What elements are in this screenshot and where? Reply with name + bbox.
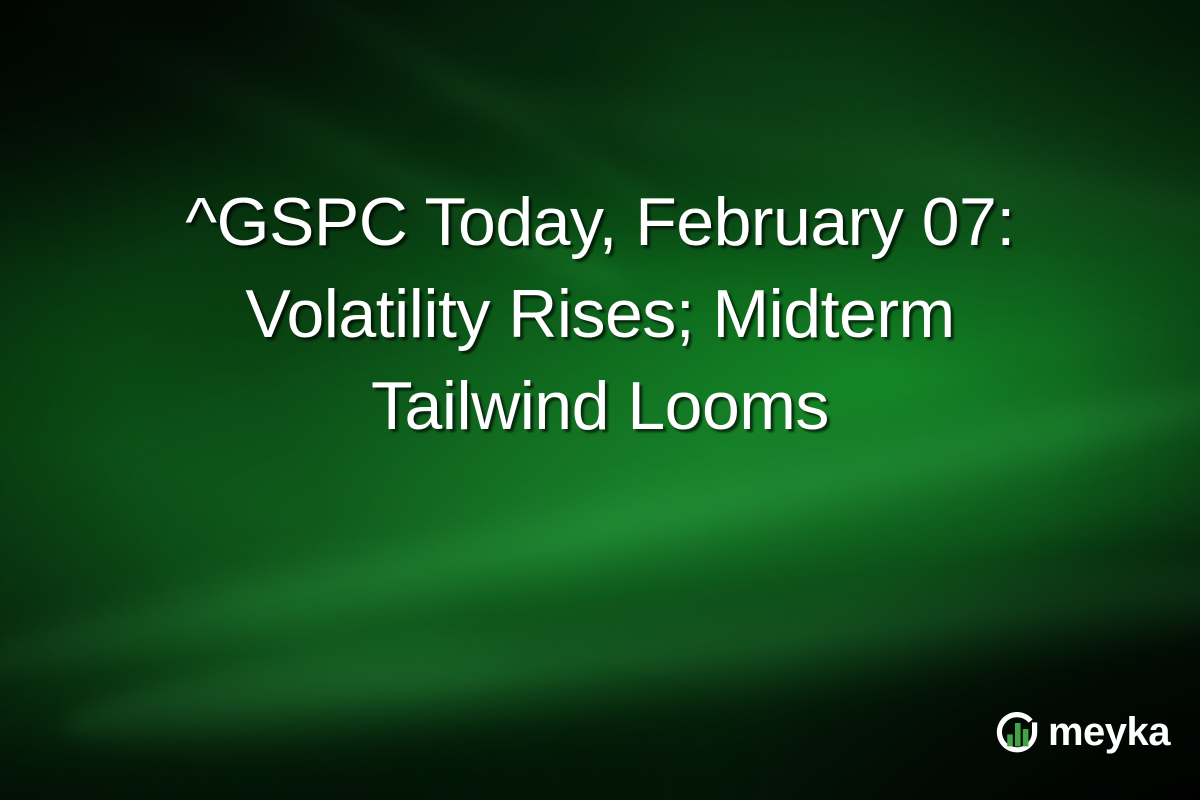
headline-block: ^GSPC Today, February 07: Volatility Ris… [0, 176, 1200, 452]
wave-ribbon-lower-left [0, 533, 498, 800]
meyka-wordmark: meyka [1048, 712, 1170, 754]
social-share-card: ^GSPC Today, February 07: Volatility Ris… [0, 0, 1200, 800]
meyka-circle-bars-logo-icon [992, 708, 1042, 758]
page-title: ^GSPC Today, February 07: Volatility Ris… [60, 176, 1140, 452]
wave-trough-bottom-left [0, 669, 726, 800]
meyka-logo[interactable]: meyka [992, 708, 1170, 758]
